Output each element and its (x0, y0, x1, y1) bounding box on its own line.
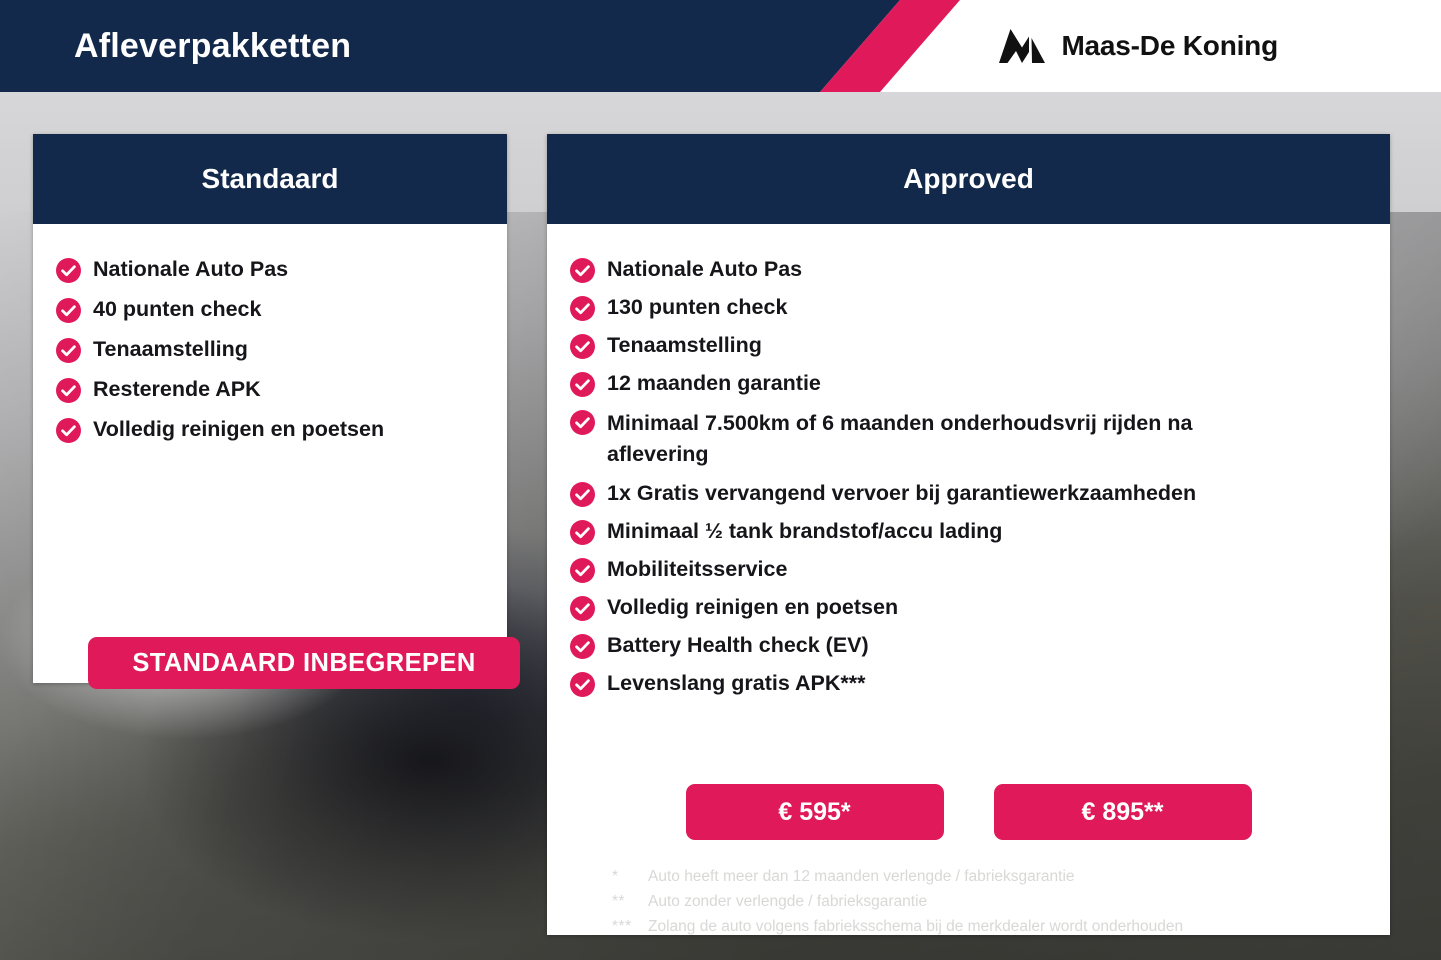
footnotes: * Auto heeft meer dan 12 maanden verleng… (612, 864, 1392, 939)
feature-label: 12 maanden garantie (607, 370, 821, 396)
list-item: 130 punten check (570, 294, 1390, 321)
standaard-included-button[interactable]: STANDAARD INBEGREPEN (88, 637, 520, 689)
brand-lockup: Maas-De Koning (999, 0, 1278, 92)
feature-label: Tenaamstelling (607, 332, 762, 358)
list-item: 1x Gratis vervangend vervoer bij garanti… (570, 480, 1390, 507)
list-item: Battery Health check (EV) (570, 632, 1390, 659)
check-circle-icon (570, 558, 595, 583)
maas-de-koning-m-logo-icon (999, 29, 1045, 63)
check-circle-icon (570, 410, 595, 435)
list-item: Levenslang gratis APK*** (570, 670, 1390, 697)
page-title: Afleverpakketten (74, 0, 351, 92)
price-button-595[interactable]: € 595* (686, 784, 944, 840)
feature-label: Volledig reinigen en poetsen (93, 416, 384, 442)
check-circle-icon (56, 258, 81, 283)
feature-label: 130 punten check (607, 294, 787, 320)
list-item: Volledig reinigen en poetsen (56, 416, 507, 443)
feature-label: Minimaal 7.500km of 6 maanden onderhouds… (607, 408, 1230, 469)
check-circle-icon (570, 482, 595, 507)
feature-label: Minimaal ½ tank brandstof/accu lading (607, 518, 1002, 544)
page-header: Afleverpakketten Maas-De Koning (0, 0, 1441, 92)
package-card-standaard: Standaard Nationale Auto Pas 40 punten c… (33, 134, 507, 683)
list-item: 40 punten check (56, 296, 507, 323)
check-circle-icon (570, 334, 595, 359)
list-item: Mobiliteitsservice (570, 556, 1390, 583)
footnote-row: ** Auto zonder verlengde / fabrieksgaran… (612, 889, 1392, 914)
list-item: Resterende APK (56, 376, 507, 403)
feature-label: Tenaamstelling (93, 336, 248, 362)
card-header-standaard: Standaard (33, 134, 507, 224)
feature-label: Nationale Auto Pas (607, 256, 802, 282)
footnote-marker: ** (612, 889, 648, 914)
check-circle-icon (56, 338, 81, 363)
feature-label: Levenslang gratis APK*** (607, 670, 865, 696)
price-button-895[interactable]: € 895** (994, 784, 1252, 840)
package-card-approved: Approved Nationale Auto Pas 130 punten c… (547, 134, 1390, 935)
footnote-row: *** Zolang de auto volgens fabrieksschem… (612, 914, 1392, 939)
brand-name: Maas-De Koning (1061, 30, 1278, 62)
list-item: 12 maanden garantie (570, 370, 1390, 397)
check-circle-icon (570, 258, 595, 283)
footnote-marker: * (612, 864, 648, 889)
footnote-text: Zolang de auto volgens fabrieksschema bi… (648, 914, 1183, 939)
content-area: Standaard Nationale Auto Pas 40 punten c… (0, 92, 1441, 960)
check-circle-icon (570, 520, 595, 545)
check-circle-icon (56, 418, 81, 443)
list-item: Minimaal ½ tank brandstof/accu lading (570, 518, 1390, 545)
footnote-text: Auto zonder verlengde / fabrieksgarantie (648, 889, 927, 914)
list-item: Tenaamstelling (570, 332, 1390, 359)
check-circle-icon (570, 596, 595, 621)
feature-list-approved: Nationale Auto Pas 130 punten check Tena… (570, 256, 1390, 697)
feature-list-standaard: Nationale Auto Pas 40 punten check Tenaa… (56, 256, 507, 443)
feature-label: Volledig reinigen en poetsen (607, 594, 898, 620)
list-item: Nationale Auto Pas (570, 256, 1390, 283)
check-circle-icon (570, 296, 595, 321)
card-title-approved: Approved (903, 163, 1034, 195)
feature-label: Battery Health check (EV) (607, 632, 869, 658)
feature-label: 1x Gratis vervangend vervoer bij garanti… (607, 480, 1196, 506)
check-circle-icon (570, 672, 595, 697)
check-circle-icon (56, 378, 81, 403)
list-item: Nationale Auto Pas (56, 256, 507, 283)
card-header-approved: Approved (547, 134, 1390, 224)
feature-label: 40 punten check (93, 296, 261, 322)
footnote-text: Auto heeft meer dan 12 maanden verlengde… (648, 864, 1075, 889)
feature-label: Resterende APK (93, 376, 261, 402)
price-button-row: € 595* € 895** (547, 784, 1390, 840)
delivery-packages-poster: Afleverpakketten Maas-De Koning Standaar… (0, 0, 1441, 960)
feature-label: Nationale Auto Pas (93, 256, 288, 282)
list-item: Minimaal 7.500km of 6 maanden onderhouds… (570, 408, 1230, 469)
list-item: Volledig reinigen en poetsen (570, 594, 1390, 621)
check-circle-icon (570, 634, 595, 659)
list-item: Tenaamstelling (56, 336, 507, 363)
feature-label: Mobiliteitsservice (607, 556, 787, 582)
card-title-standaard: Standaard (202, 163, 339, 195)
footnote-marker: *** (612, 914, 648, 939)
footnote-row: * Auto heeft meer dan 12 maanden verleng… (612, 864, 1392, 889)
check-circle-icon (56, 298, 81, 323)
check-circle-icon (570, 372, 595, 397)
